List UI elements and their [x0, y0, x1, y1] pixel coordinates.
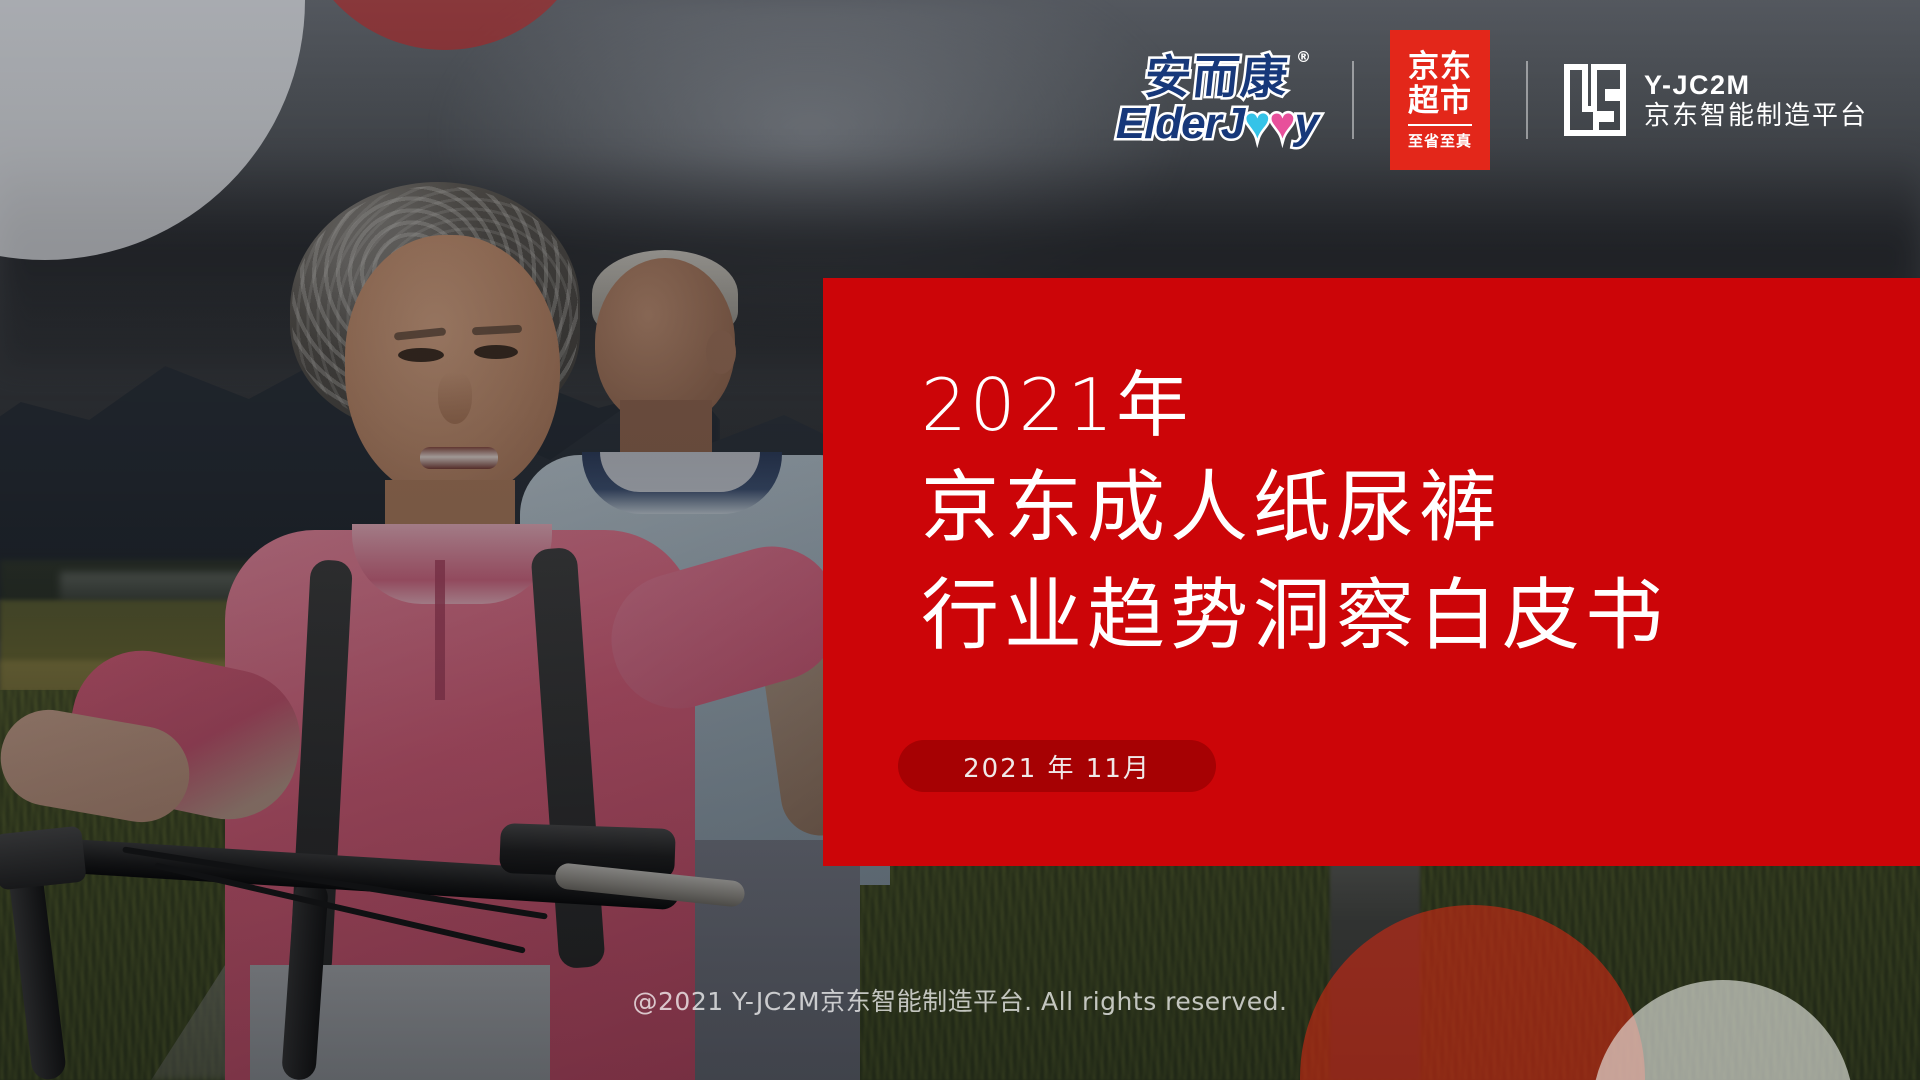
title-slide: 安而康® ElderJ♥♥y 京东 超市 至省至真 Y-JC2M	[0, 0, 1920, 1080]
elderjoy-chinese-name: 安而康®	[1142, 54, 1291, 100]
y-jc2m-english: Y-JC2M	[1644, 72, 1868, 99]
heart-pink-icon: ♥	[1269, 102, 1294, 146]
elderjoy-letter-j: J	[1221, 102, 1244, 146]
logo-divider-2	[1526, 61, 1528, 139]
registered-trademark-icon: ®	[1296, 50, 1313, 65]
jd-supermarket-rule	[1408, 124, 1472, 126]
logo-divider-1	[1352, 61, 1354, 139]
title-line-3: 行业趋势洞察白皮书	[921, 570, 1668, 662]
elderjoy-logo[interactable]: 安而康® ElderJ♥♥y	[1116, 54, 1352, 146]
jd-supermarket-tagline: 至省至真	[1408, 130, 1472, 151]
elderjoy-english-suffix: y	[1295, 102, 1318, 146]
title-line-1: 2021年	[921, 363, 1668, 448]
elderjoy-chinese-text: 安而康	[1142, 50, 1292, 104]
elderjoy-english-name: ElderJ♥♥y	[1116, 102, 1318, 146]
y-jc2m-mark-icon	[1564, 64, 1626, 136]
jd-supermarket-line2: 超市	[1408, 85, 1472, 118]
y-jc2m-chinese: 京东智能制造平台	[1644, 103, 1868, 129]
y-jc2m-logo[interactable]: Y-JC2M 京东智能制造平台	[1564, 64, 1868, 136]
footer: @2021 Y-JC2M京东智能制造平台. All rights reserve…	[0, 982, 1920, 1018]
logo-row: 安而康® ElderJ♥♥y 京东 超市 至省至真 Y-JC2M	[1116, 30, 1868, 170]
elderjoy-english-prefix: Elder	[1116, 102, 1221, 146]
copyright-text: @2021 Y-JC2M京东智能制造平台. All rights reserve…	[633, 987, 1288, 1016]
title-block: 2021年 京东成人纸尿裤 行业趋势洞察白皮书	[921, 363, 1668, 662]
heart-cyan-icon: ♥	[1244, 102, 1269, 146]
title-line-2: 京东成人纸尿裤	[921, 462, 1668, 554]
jd-supermarket-logo[interactable]: 京东 超市 至省至真	[1390, 30, 1490, 170]
header: 安而康® ElderJ♥♥y 京东 超市 至省至真 Y-JC2M	[0, 0, 1920, 190]
date-badge: 2021 年 11月	[898, 740, 1216, 792]
jd-supermarket-line1: 京东	[1408, 51, 1472, 84]
date-badge-label: 2021 年 11月	[963, 748, 1151, 785]
y-jc2m-text: Y-JC2M 京东智能制造平台	[1644, 72, 1868, 129]
